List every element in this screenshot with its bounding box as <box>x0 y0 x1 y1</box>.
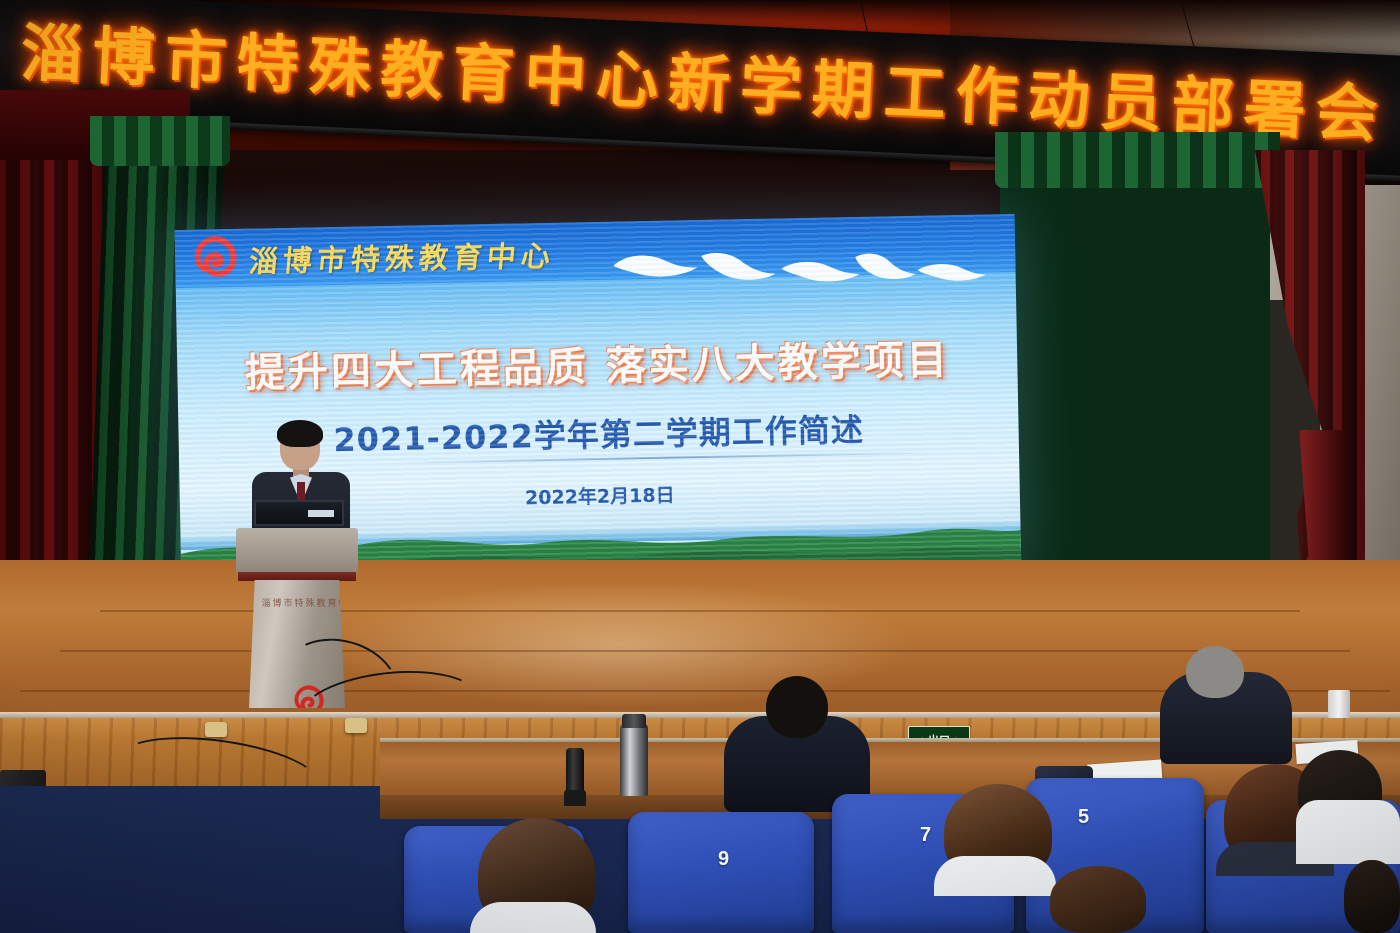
attendee-back-2-head <box>1186 646 1244 698</box>
attendee-front-5-head <box>1344 860 1400 933</box>
swirl-logo-icon <box>191 235 238 282</box>
seat-number-9: 9 <box>718 848 729 871</box>
speaker-hair <box>277 420 323 447</box>
attendee-back-1-head <box>766 676 828 738</box>
podium-label: 淄博市特殊教育中心 <box>261 596 361 609</box>
stage-valance-green-right <box>995 132 1280 188</box>
attendee-front-1-collar <box>470 902 596 933</box>
seat-number-7: 7 <box>920 824 931 847</box>
attendee-front-2-collar <box>934 856 1056 896</box>
attendee-front-6-head <box>1050 866 1146 933</box>
laptop-screen-glow <box>308 510 334 517</box>
seat-number-5-left: 5 <box>1078 806 1089 829</box>
thermos-black-cap <box>564 790 586 806</box>
auditorium-photo: 淄博市特殊教育中心新学期工作动员部署会 淄博市特殊教育中心 提升四大工 <box>0 0 1400 933</box>
thermos-steel-cap <box>622 714 646 728</box>
cup-white <box>1328 690 1350 718</box>
cable-weight-1 <box>205 722 227 737</box>
laptop-screen <box>254 500 344 526</box>
podium-red-trim <box>238 572 356 581</box>
podium-top-surface <box>236 528 358 574</box>
attendee-front-4-shirt <box>1296 800 1400 864</box>
seat-9 <box>628 812 814 933</box>
slide-title: 提升四大工程品质 落实八大教学项目 <box>177 326 1018 400</box>
flying-birds-graphic <box>605 237 986 304</box>
thermos-steel <box>620 724 648 796</box>
slide-org-name: 淄博市特殊教育中心 <box>247 233 557 281</box>
stage-valance-green-left <box>90 116 230 166</box>
